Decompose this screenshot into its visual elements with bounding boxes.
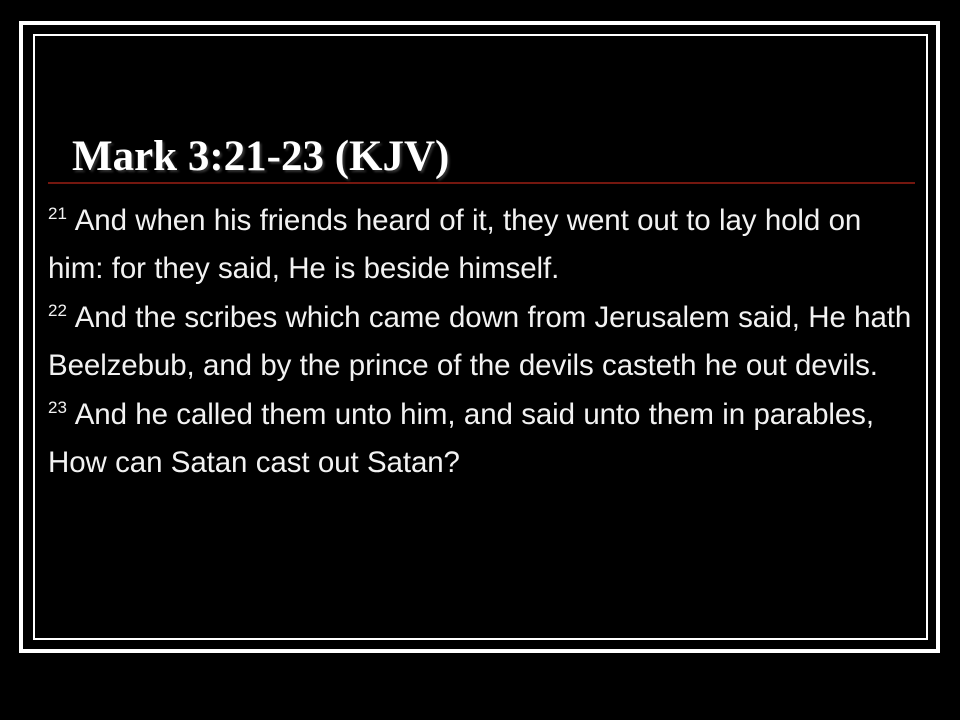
verse-paragraph: 21 And when his friends heard of it, the… (48, 197, 921, 292)
verse-text: And he called them unto him, and said un… (48, 398, 874, 479)
verse-paragraph: 23 And he called them unto him, and said… (48, 391, 921, 486)
scripture-body: 21 And when his friends heard of it, the… (48, 197, 921, 488)
page-title: Mark 3:21-23 (KJV) (72, 131, 892, 183)
verse-number: 21 (48, 204, 68, 223)
verse-paragraph: 22 And the scribes which came down from … (48, 294, 921, 389)
verse-text: And the scribes which came down from Jer… (48, 301, 911, 382)
title-divider (48, 182, 915, 184)
verse-number: 23 (48, 398, 68, 417)
verse-number: 22 (48, 301, 68, 320)
verse-text: And when his friends heard of it, they w… (48, 204, 861, 285)
presentation-slide: Mark 3:21-23 (KJV) 21 And when his frien… (0, 0, 960, 720)
slide-content-area: Mark 3:21-23 (KJV) 21 And when his frien… (35, 36, 926, 638)
